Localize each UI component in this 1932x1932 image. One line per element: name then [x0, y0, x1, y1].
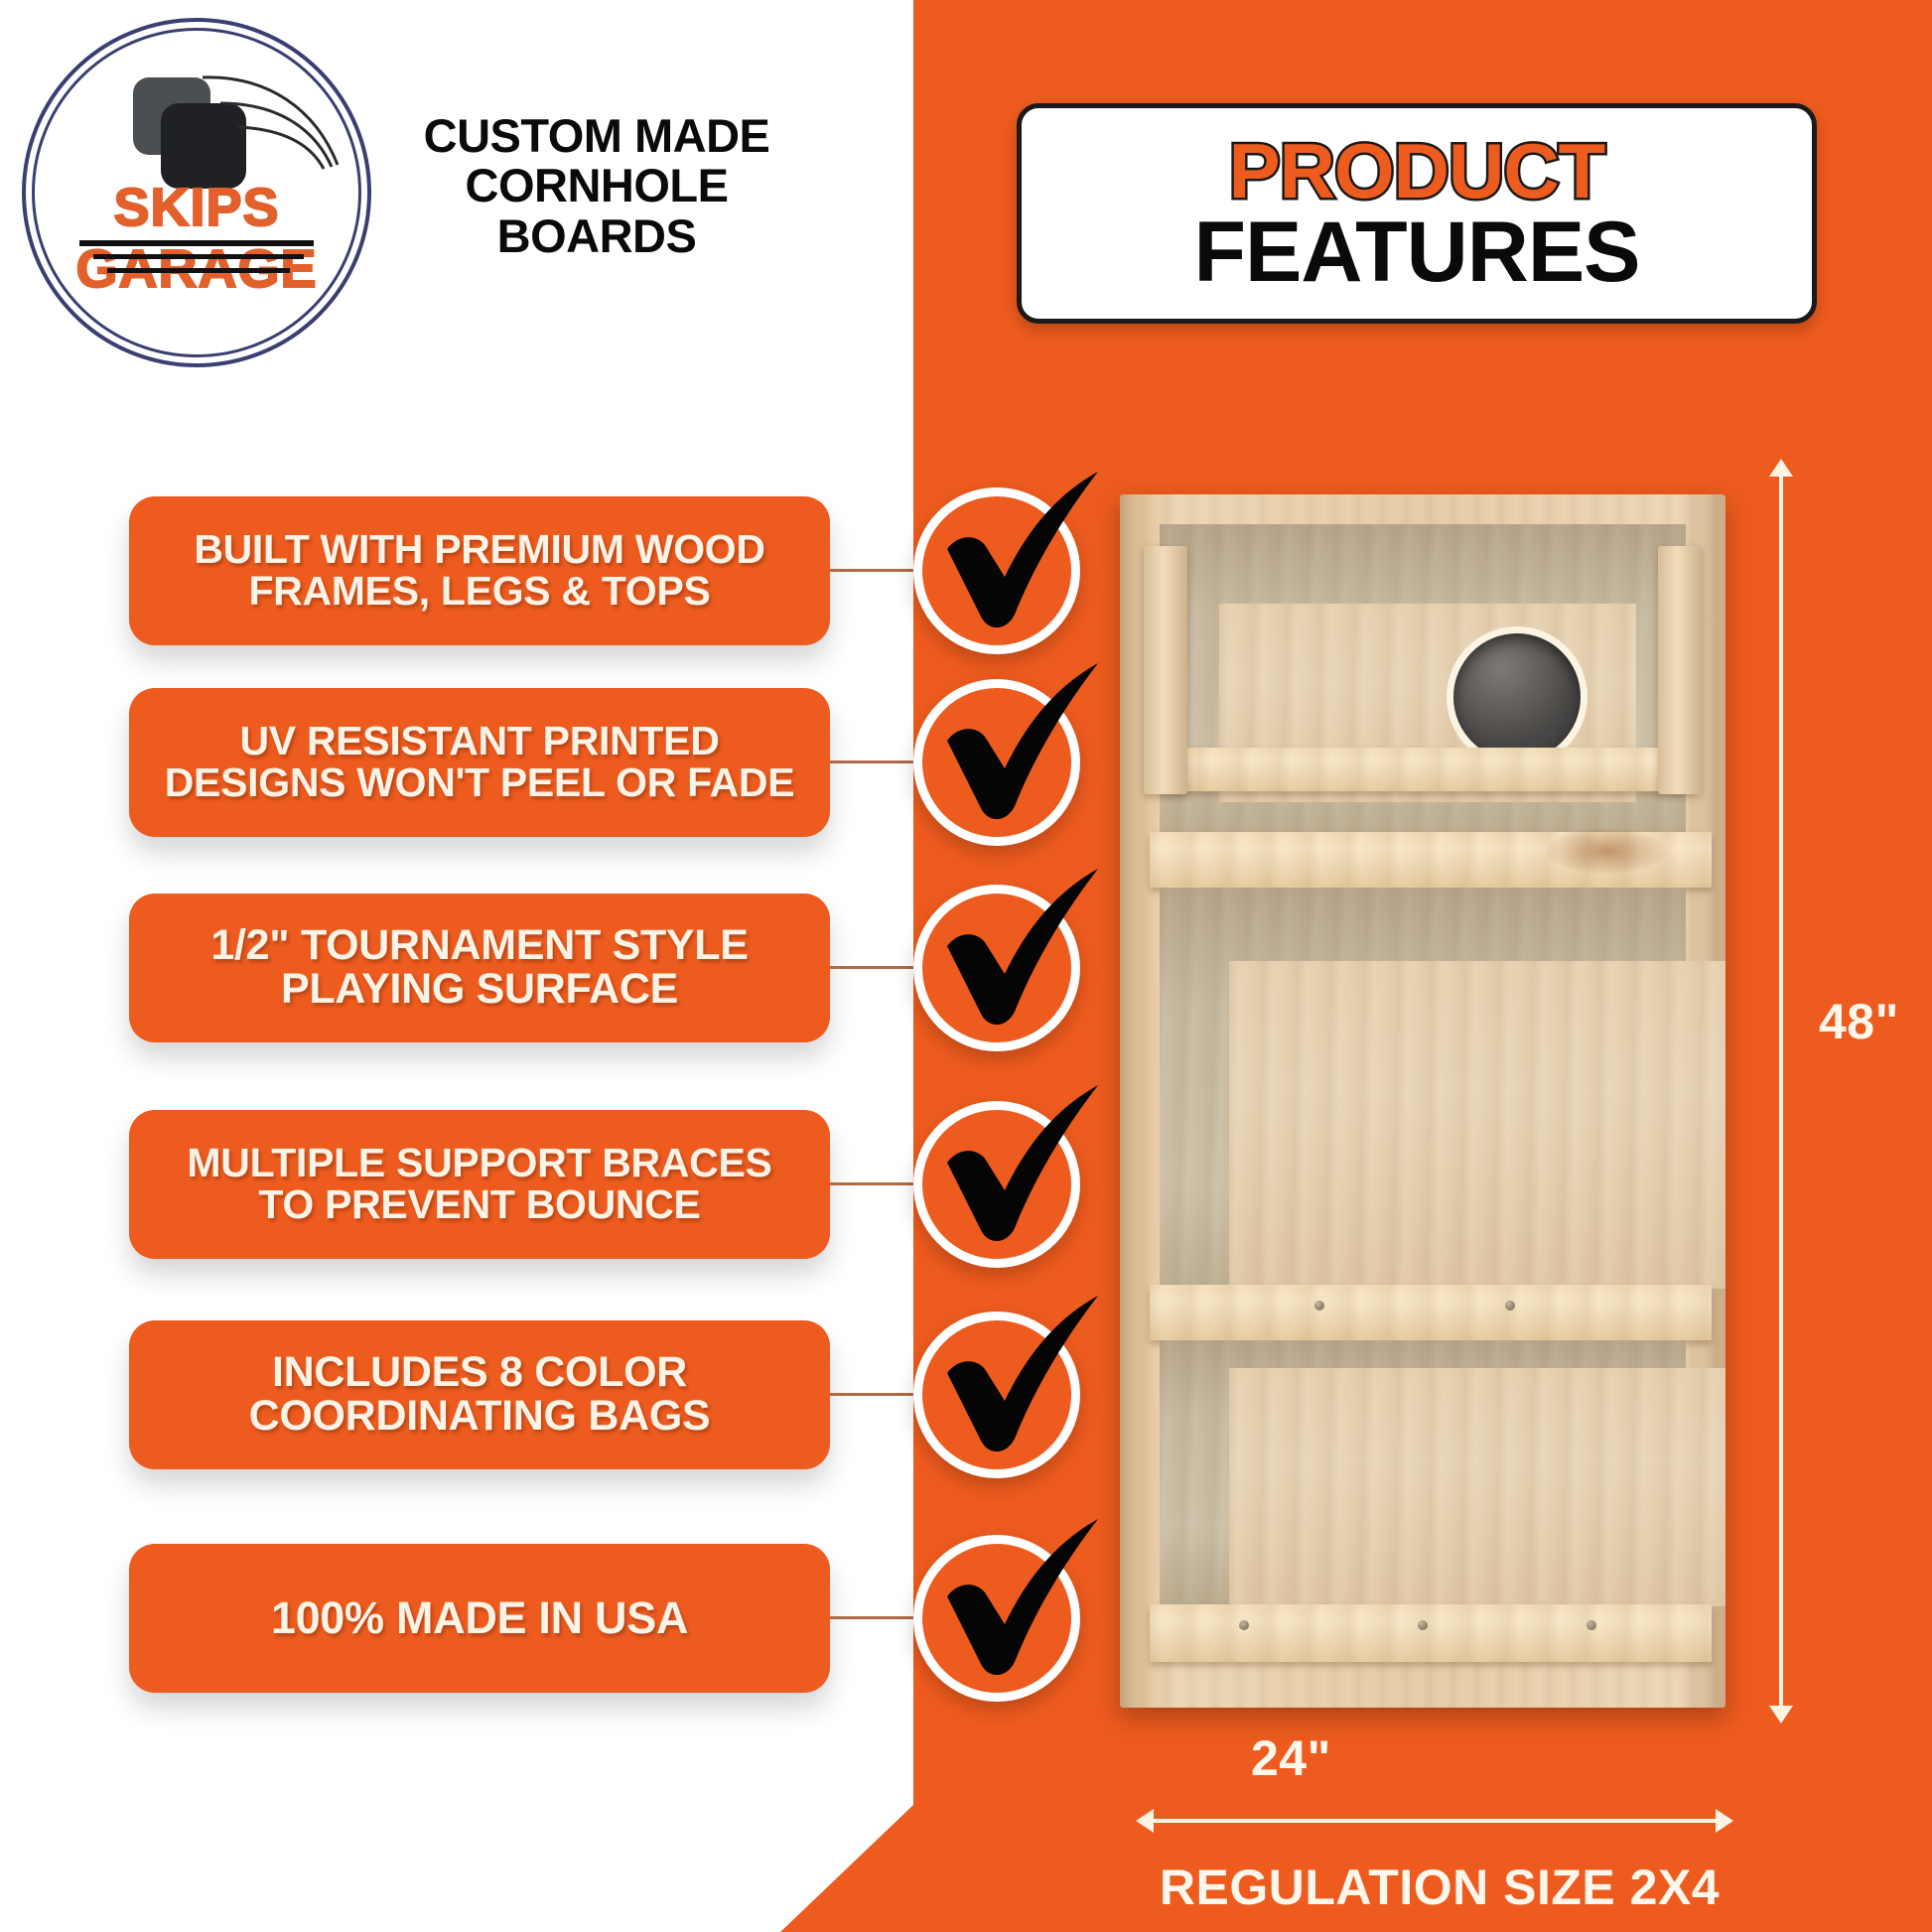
feature-pill[interactable]: BUILT WITH PREMIUM WOOD FRAMES, LEGS & T… [129, 496, 830, 645]
feature-check [913, 1311, 1080, 1478]
arrow-head-left-icon [1136, 1809, 1154, 1833]
width-dimension-label: 24" [1251, 1729, 1331, 1787]
arrow-head-down-icon [1769, 1706, 1793, 1724]
checkmark-icon [923, 657, 1112, 846]
page-title: CUSTOM MADE CORNHOLE BOARDS [383, 111, 810, 261]
width-dimension-arrow [1152, 1819, 1718, 1823]
height-dimension-label: 48" [1819, 993, 1899, 1050]
product-photo-cornhole-board [1120, 494, 1725, 1708]
banner-word-features: FEATURES [1193, 210, 1639, 294]
feature-row: INCLUDES 8 COLOR COORDINATING BAGS [0, 1320, 1092, 1469]
checkmark-icon [923, 1079, 1112, 1268]
feature-label: 100% MADE IN USA [129, 1595, 830, 1641]
feature-pill[interactable]: UV RESISTANT PRINTED DESIGNS WON'T PEEL … [129, 688, 830, 837]
feature-check [913, 487, 1080, 654]
product-features-banner: PRODUCT FEATURES [1017, 103, 1817, 324]
checkmark-icon [923, 1513, 1112, 1702]
board-leg-right [1658, 546, 1702, 794]
checkmark-icon [923, 1290, 1112, 1478]
regulation-size-label: REGULATION SIZE 2X4 [1033, 1859, 1847, 1916]
board-screw [1505, 1301, 1515, 1311]
feature-row: 100% MADE IN USA [0, 1544, 1092, 1693]
feature-pill[interactable]: 1/2" TOURNAMENT STYLE PLAYING SURFACE [129, 894, 830, 1042]
feature-check [913, 679, 1080, 846]
board-brace-4 [1150, 1604, 1712, 1662]
board-screw [1239, 1620, 1249, 1630]
checkmark-icon [923, 863, 1112, 1051]
headline-line-2: CORNHOLE [383, 161, 810, 210]
feature-pill[interactable]: INCLUDES 8 COLOR COORDINATING BAGS [129, 1320, 830, 1469]
board-screw [1314, 1301, 1324, 1311]
feature-row: BUILT WITH PREMIUM WOOD FRAMES, LEGS & T… [0, 496, 1092, 645]
board-brace-3 [1150, 1285, 1712, 1340]
banner-word-product: PRODUCT [1229, 133, 1605, 208]
feature-label: MULTIPLE SUPPORT BRACES TO PREVENT BOUNC… [129, 1143, 830, 1226]
feature-row: UV RESISTANT PRINTED DESIGNS WON'T PEEL … [0, 688, 1092, 837]
brand-wordmark: SKIPS GARAGE [16, 177, 377, 300]
logo-rule-1 [79, 240, 314, 246]
feature-pill[interactable]: MULTIPLE SUPPORT BRACES TO PREVENT BOUNC… [129, 1110, 830, 1259]
feature-check [913, 885, 1080, 1051]
motion-lines-icon [199, 69, 357, 179]
feature-label: 1/2" TOURNAMENT STYLE PLAYING SURFACE [129, 924, 830, 1012]
board-screw [1418, 1620, 1428, 1630]
board-panel-bottom [1229, 1368, 1725, 1606]
logo-rule-3 [107, 268, 290, 273]
board-screw [1587, 1620, 1596, 1630]
arrow-head-right-icon [1716, 1809, 1733, 1833]
feature-row: MULTIPLE SUPPORT BRACES TO PREVENT BOUNC… [0, 1110, 1092, 1259]
headline-line-1: CUSTOM MADE [383, 111, 810, 161]
board-panel-middle [1229, 961, 1725, 1289]
feature-pill[interactable]: 100% MADE IN USA [129, 1544, 830, 1693]
height-dimension-arrow [1779, 475, 1783, 1708]
feature-row: 1/2" TOURNAMENT STYLE PLAYING SURFACE [0, 894, 1092, 1042]
feature-label: BUILT WITH PREMIUM WOOD FRAMES, LEGS & T… [129, 529, 830, 613]
feature-check [913, 1535, 1080, 1702]
board-brace-1 [1160, 748, 1686, 791]
arrow-head-up-icon [1769, 459, 1793, 477]
board-leg-left [1144, 546, 1187, 794]
wood-knot [1547, 828, 1666, 874]
checkmark-icon [923, 466, 1112, 654]
board-bag-hole [1453, 633, 1581, 760]
brand-logo: SKIPS GARAGE [22, 18, 371, 367]
feature-check [913, 1101, 1080, 1268]
feature-label: INCLUDES 8 COLOR COORDINATING BAGS [129, 1351, 830, 1439]
logo-rule-2 [93, 254, 304, 259]
headline-line-3: BOARDS [383, 211, 810, 261]
feature-label: UV RESISTANT PRINTED DESIGNS WON'T PEEL … [129, 721, 830, 804]
